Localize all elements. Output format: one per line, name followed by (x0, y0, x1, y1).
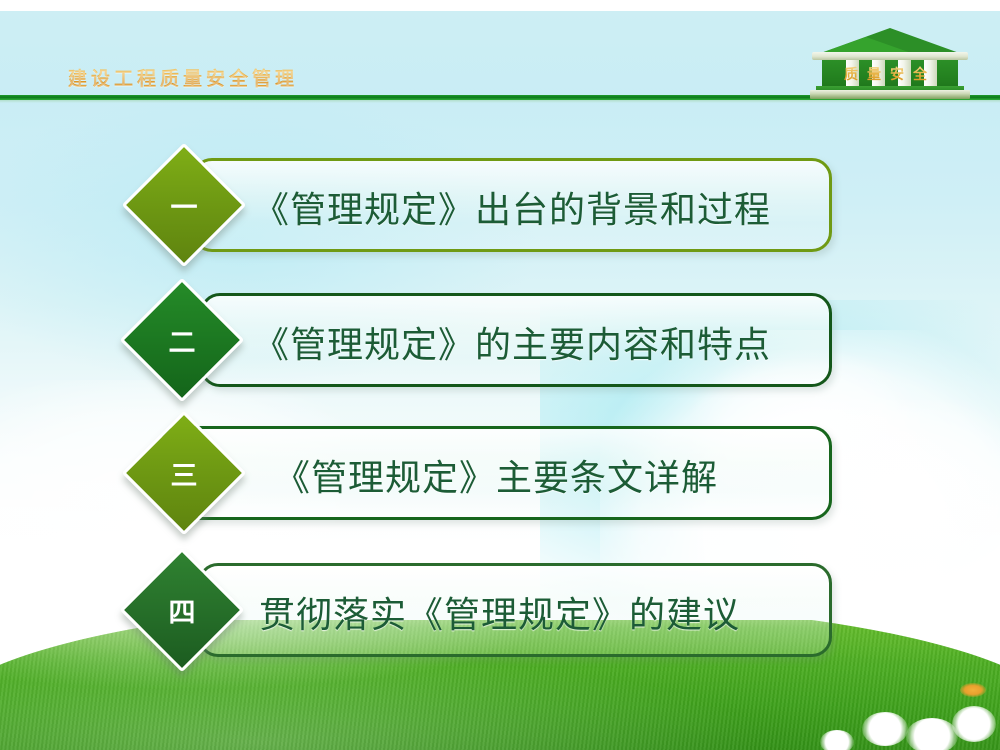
agenda-row-4-number: 四 (141, 569, 223, 651)
top-white-margin (0, 0, 1000, 11)
page-title: 建设工程质量安全管理 (68, 64, 298, 91)
agenda-row-4-label: 贯彻落实《管理规定》的建议 (259, 586, 740, 638)
agenda-row-1-number: 一 (143, 164, 225, 246)
agenda-row-2-number: 二 (141, 299, 223, 381)
slide-canvas: 建设工程质量安全管理 质量安全 一 《管理规定》出台的背景和过程 二 《管理规定… (0, 0, 1000, 750)
logo-label: 质量安全 (822, 64, 958, 84)
logo-architrave (812, 52, 968, 60)
agenda-row-1-label: 《管理规定》出台的背景和过程 (253, 181, 771, 233)
agenda-row-2-label: 《管理规定》的主要内容和特点 (253, 316, 771, 368)
white-bloom-4 (820, 730, 854, 750)
header-divider-shadow (0, 100, 1000, 103)
agenda-row-3-number: 三 (143, 432, 225, 514)
temple-building-icon: 质量安全 (810, 28, 970, 100)
white-bloom-3 (952, 706, 996, 742)
agenda-row-4[interactable]: 四 贯彻落实《管理规定》的建议 (0, 555, 1000, 675)
white-bloom-1 (862, 712, 908, 746)
flower-cluster-icon (960, 683, 986, 697)
agenda-row-2[interactable]: 二 《管理规定》的主要内容和特点 (0, 285, 1000, 405)
agenda-row-1[interactable]: 一 《管理规定》出台的背景和过程 (0, 150, 1000, 270)
logo-plinth (810, 90, 970, 99)
agenda-row-3-label: 《管理规定》主要条文详解 (274, 449, 718, 501)
white-bloom-2 (906, 718, 958, 750)
agenda-row-3[interactable]: 三 《管理规定》主要条文详解 (0, 418, 1000, 538)
